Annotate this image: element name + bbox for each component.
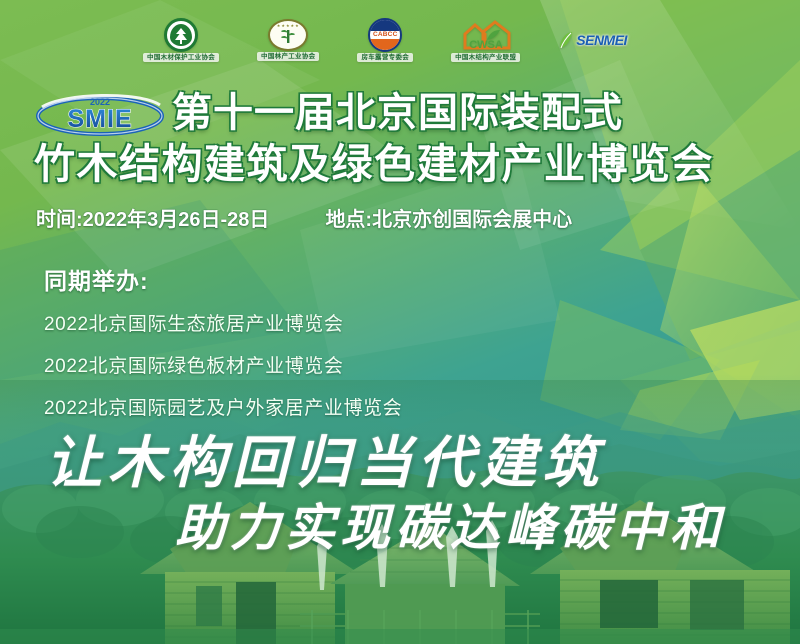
exhibition-poster: 中国木材保护工业协会 ★★★★★ 中国林产工业协会	[0, 0, 800, 644]
cabcc-badge-text: CABCC	[373, 31, 397, 38]
logo-senmei: SENMEI	[558, 30, 627, 50]
logo-caption: 中国林产工业协会	[257, 52, 319, 61]
smie-wordmark: SMIE	[67, 105, 132, 133]
concurrent-events-block: 同期举办: 2022北京国际生态旅居产业博览会 2022北京国际绿色板材产业博览…	[44, 262, 402, 435]
concurrent-heading: 同期举办:	[44, 262, 402, 296]
title-line-1: 第十一届北京国际装配式	[172, 90, 623, 136]
logo-cwsa: CWSA 中国木结构产业联盟	[451, 18, 520, 62]
logo-caption: 中国木材保护工业协会	[143, 53, 219, 62]
slogan-line-2: 助力实现碳达峰碳中和	[175, 488, 725, 560]
senmei-leaf-icon: SENMEI	[558, 30, 627, 50]
concurrent-event-item: 2022北京国际生态旅居产业博览会	[44, 309, 402, 336]
logo-china-wood-protection: 中国木材保护工业协会	[143, 18, 219, 62]
event-date: 时间:2022年3月26日-28日	[36, 203, 269, 232]
logo-caption: 房车露营专委会	[357, 53, 413, 62]
event-meta: 时间:2022年3月26日-28日 地点:北京亦创国际会展中心	[36, 203, 572, 232]
logo-caption: 中国木结构产业联盟	[451, 53, 520, 62]
tree-in-circle-icon	[164, 18, 198, 52]
logo-bamboo-association: ★★★★★ 中国林产工业协会	[257, 19, 319, 61]
smie-event-logo: 2022 SMIE	[34, 89, 166, 137]
sponsor-logo-strip: 中国木材保护工业协会 ★★★★★ 中国林产工业协会	[0, 0, 800, 80]
event-venue: 地点:北京亦创国际会展中心	[325, 203, 572, 232]
slogan-line-1: 让木构回归当代建筑	[46, 418, 604, 499]
svg-text:CWSA: CWSA	[469, 39, 503, 51]
logo-cabcc: CABCC 房车露营专委会	[357, 18, 413, 62]
cwsa-house-icon: CWSA	[459, 18, 513, 52]
title-line-2: 竹木结构建筑及绿色建材产业博览会	[34, 140, 714, 188]
cabcc-badge-icon: CABCC	[368, 18, 402, 52]
senmei-wordmark: SENMEI	[576, 32, 627, 48]
concurrent-event-item: 2022北京国际园艺及户外家居产业博览会	[44, 393, 402, 420]
bamboo-oval-icon: ★★★★★	[268, 19, 308, 51]
concurrent-event-item: 2022北京国际绿色板材产业博览会	[44, 351, 402, 378]
